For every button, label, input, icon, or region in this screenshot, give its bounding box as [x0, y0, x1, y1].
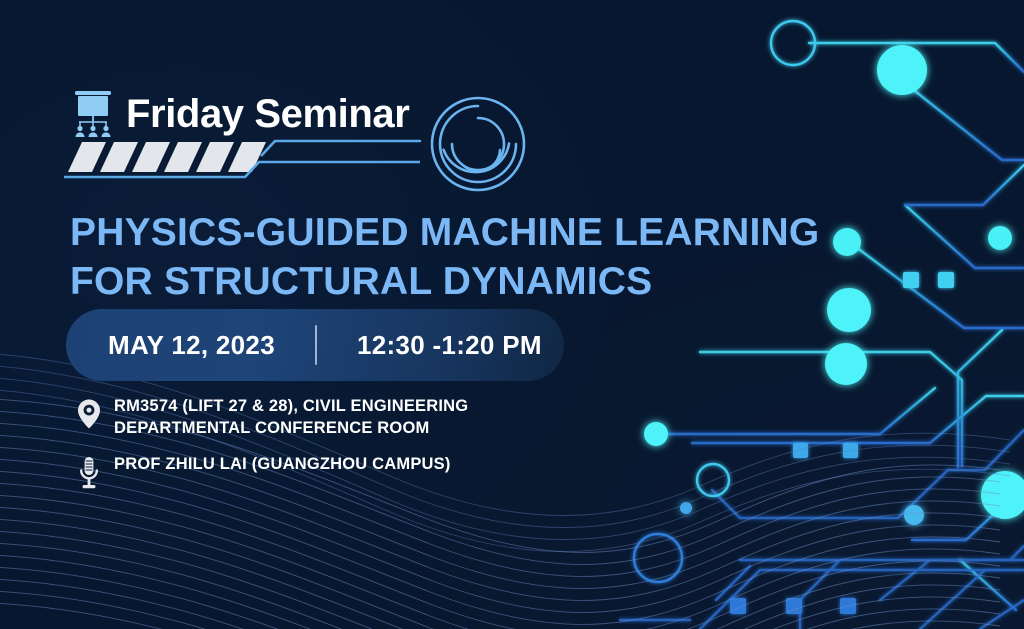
concentric-rings-icon	[424, 92, 532, 196]
location-line-1: RM3574 (LIFT 27 & 28), CIVIL ENGINEERING	[114, 396, 468, 418]
speaker-row: PROF ZHILU LAI (GUANGZHOU CAMPUS)	[72, 454, 632, 490]
speaker-text: PROF ZHILU LAI (GUANGZHOU CAMPUS)	[106, 454, 451, 476]
seminar-poster: Friday Seminar PHYSICS-GUIDED MACHINE LE…	[0, 0, 1024, 629]
schedule-time: 12:30 -1:20 PM	[357, 330, 542, 361]
seminar-title: PHYSICS-GUIDED MACHINE LEARNING FOR STRU…	[70, 208, 830, 306]
header-title: Friday Seminar	[126, 94, 409, 134]
speaker-name: PROF ZHILU LAI (GUANGZHOU CAMPUS)	[114, 454, 451, 476]
location-line-2: DEPARTMENTAL CONFERENCE ROOM	[114, 418, 468, 440]
map-pin-icon	[72, 396, 106, 430]
seminar-title-line-2: FOR STRUCTURAL DYNAMICS	[70, 257, 830, 306]
schedule-divider	[315, 325, 317, 365]
header: Friday Seminar	[70, 86, 409, 142]
seminar-title-line-1: PHYSICS-GUIDED MACHINE LEARNING	[70, 208, 830, 257]
location-text: RM3574 (LIFT 27 & 28), CIVIL ENGINEERING…	[106, 396, 468, 440]
schedule-pill: MAY 12, 2023 12:30 -1:20 PM	[66, 309, 564, 381]
schedule-date: MAY 12, 2023	[108, 330, 275, 361]
details-block: RM3574 (LIFT 27 & 28), CIVIL ENGINEERING…	[72, 396, 632, 504]
presentation-board-icon	[70, 89, 116, 139]
striped-bar-decoration	[62, 136, 422, 182]
microphone-icon	[72, 454, 106, 490]
location-row: RM3574 (LIFT 27 & 28), CIVIL ENGINEERING…	[72, 396, 632, 440]
